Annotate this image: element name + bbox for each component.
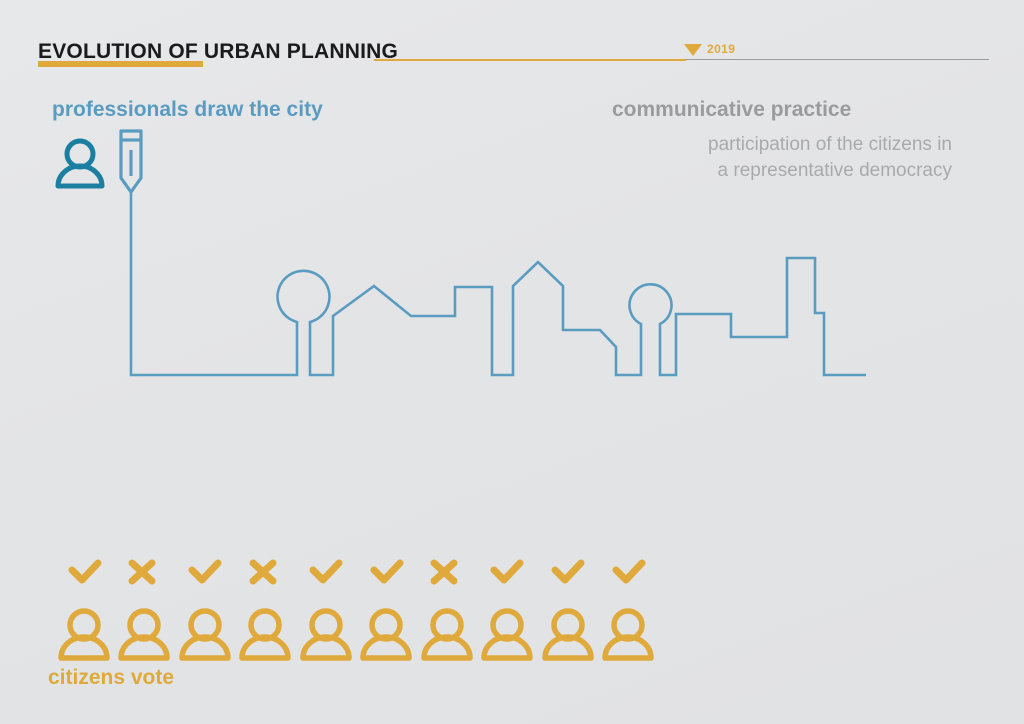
city-skyline-path	[131, 192, 866, 375]
vote-mark-check	[555, 563, 581, 580]
citizen-person-icon	[424, 611, 470, 658]
infographic-canvas: EVOLUTION OF URBAN PLANNING 2019 profess…	[0, 0, 1024, 724]
vote-mark-cross	[132, 563, 152, 581]
citizen-person-icon	[484, 611, 530, 658]
illustration-layer	[0, 0, 1024, 724]
citizen-person-icon	[545, 611, 591, 658]
vote-mark-check	[616, 563, 642, 580]
citizen-person-icon	[182, 611, 228, 658]
citizen-person-icon	[605, 611, 651, 658]
citizen-person-icon	[121, 611, 167, 658]
vote-mark-cross	[253, 563, 273, 581]
vote-mark-check	[374, 563, 400, 580]
vote-mark-cross	[434, 563, 454, 581]
vote-mark-check	[72, 563, 98, 580]
citizen-person-icon	[242, 611, 288, 658]
citizen-icons-row	[61, 611, 651, 658]
citizen-person-icon	[303, 611, 349, 658]
vote-marks-row	[72, 563, 642, 581]
vote-mark-check	[192, 563, 218, 580]
citizen-person-icon	[363, 611, 409, 658]
citizens-vote-caption: citizens vote	[48, 666, 174, 690]
professional-person-icon	[58, 141, 102, 186]
vote-mark-check	[494, 563, 520, 580]
pencil-icon	[121, 131, 141, 192]
vote-mark-check	[313, 563, 339, 580]
citizen-person-icon	[61, 611, 107, 658]
